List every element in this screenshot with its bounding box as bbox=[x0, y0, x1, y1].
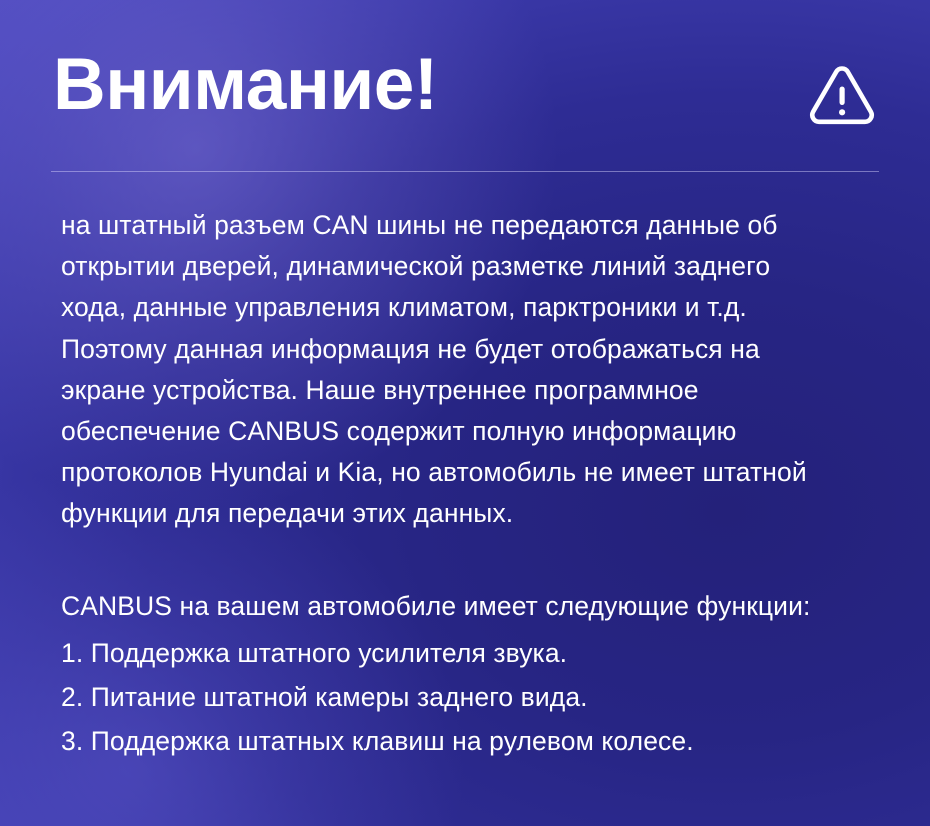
warning-triangle-icon bbox=[808, 62, 876, 126]
notice-paragraph: на штатный разъем CAN шины не передаются… bbox=[61, 205, 887, 535]
feature-list-item: 2. Питание штатной камеры заднего вида. bbox=[61, 675, 887, 719]
feature-list-item: 3. Поддержка штатных клавиш на рулевом к… bbox=[61, 719, 887, 763]
feature-list-intro: CANBUS на вашем автомобиле имеет следующ… bbox=[61, 586, 887, 627]
paragraph-line: протоколов Hyundai и Kia, но автомобиль … bbox=[61, 452, 887, 493]
paragraph-line: обеспечение CANBUS содержит полную инфор… bbox=[61, 411, 887, 452]
paragraph-line: хода, данные управления климатом, парктр… bbox=[61, 287, 887, 328]
paragraph-line: на штатный разъем CAN шины не передаются… bbox=[61, 205, 887, 246]
page-title: Внимание! bbox=[53, 48, 438, 121]
header-divider bbox=[51, 171, 879, 172]
banner-header: Внимание! bbox=[0, 0, 930, 176]
warning-banner: Внимание! на штатный разъем CAN шины не … bbox=[0, 0, 930, 826]
paragraph-line: функции для передачи этих данных. bbox=[61, 493, 887, 534]
paragraph-line: экране устройства. Наше внутреннее прогр… bbox=[61, 370, 887, 411]
paragraph-line: открытии дверей, динамической разметке л… bbox=[61, 246, 887, 287]
feature-list-item: 1. Поддержка штатного усилителя звука. bbox=[61, 631, 887, 675]
paragraph-line: Поэтому данная информация не будет отобр… bbox=[61, 329, 887, 370]
feature-list-block: CANBUS на вашем автомобиле имеет следующ… bbox=[61, 586, 887, 763]
